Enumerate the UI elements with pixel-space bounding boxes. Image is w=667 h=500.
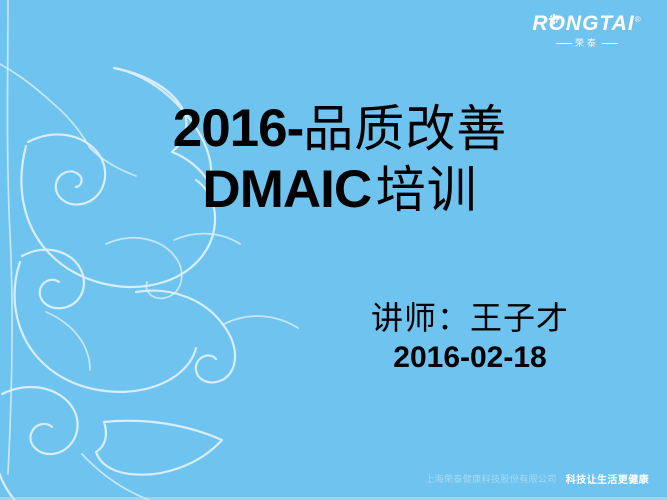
logo-wordmark: RONGTAI® — [521, 8, 653, 35]
title-line-2-latin: DMAIC — [202, 160, 371, 219]
registered-trademark-icon: ® — [635, 15, 642, 24]
presentation-title-slide: RONGTAI® 荣泰 2016-品质改善 DMAIC 培训 — [0, 0, 667, 500]
slide-footer: 上海荣泰健康科技股份有限公司 科技让生活更健康 — [425, 471, 649, 486]
title-line-2-cjk: 培训 — [376, 161, 478, 219]
presenter-info: 讲师：王子才 2016-02-18 — [320, 298, 620, 375]
decorative-swirl-ornament — [0, 0, 316, 500]
logo-rule-left — [556, 43, 572, 44]
title-line-1-cjk: 品质改善 — [303, 100, 507, 158]
title-line-1-latin: 2016- — [173, 99, 304, 158]
logo-chinese-name: 荣泰 — [521, 36, 653, 49]
title-line-2: DMAIC 培训 — [130, 159, 550, 220]
flower-mark-icon — [548, 13, 560, 25]
presentation-date: 2016-02-18 — [320, 341, 620, 375]
logo-chinese-name-text: 荣泰 — [575, 38, 599, 48]
footer-company-name: 上海荣泰健康科技股份有限公司 — [425, 472, 557, 485]
slide-title: 2016-品质改善 DMAIC 培训 — [130, 98, 550, 221]
footer-slogan: 科技让生活更健康 — [566, 471, 649, 486]
title-line-1: 2016-品质改善 — [130, 98, 550, 159]
logo-rule-right — [602, 43, 618, 44]
rongtai-logo: RONGTAI® 荣泰 — [521, 8, 653, 49]
presenter-name: 讲师：王子才 — [320, 298, 620, 339]
